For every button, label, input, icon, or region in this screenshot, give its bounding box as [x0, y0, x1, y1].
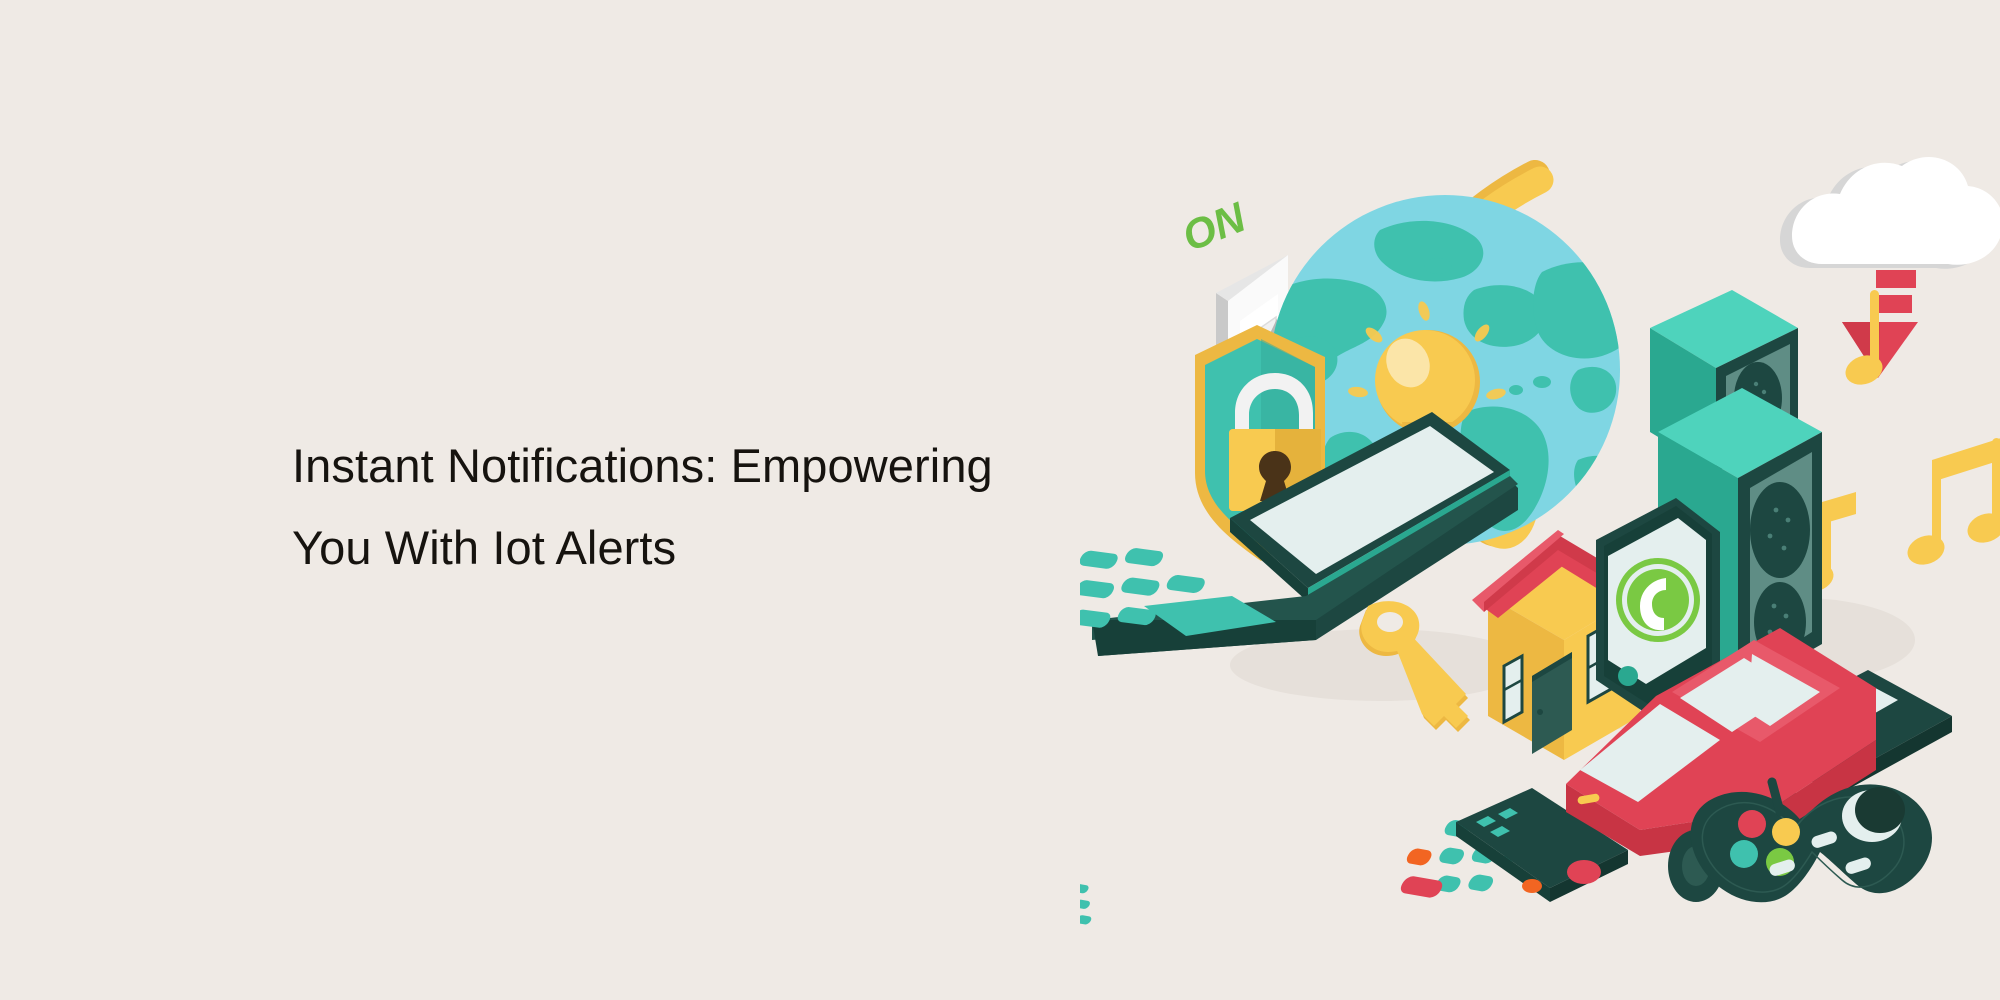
svg-text:ON: ON: [1176, 193, 1254, 261]
hero-banner: Instant Notifications: Empowering You Wi…: [0, 0, 2000, 1000]
page-title: Instant Notifications: Empowering You Wi…: [292, 425, 1132, 589]
iot-illustration: ON: [1080, 40, 2000, 960]
cloud-download-icon: [1780, 157, 2000, 378]
page-title-line-1: Instant Notifications: Empowering: [292, 425, 1132, 507]
page-title-line-2: You With Iot Alerts: [292, 507, 1132, 589]
remote-icon: [1080, 788, 1628, 928]
light-switch-on-label: ON: [1176, 193, 1254, 261]
